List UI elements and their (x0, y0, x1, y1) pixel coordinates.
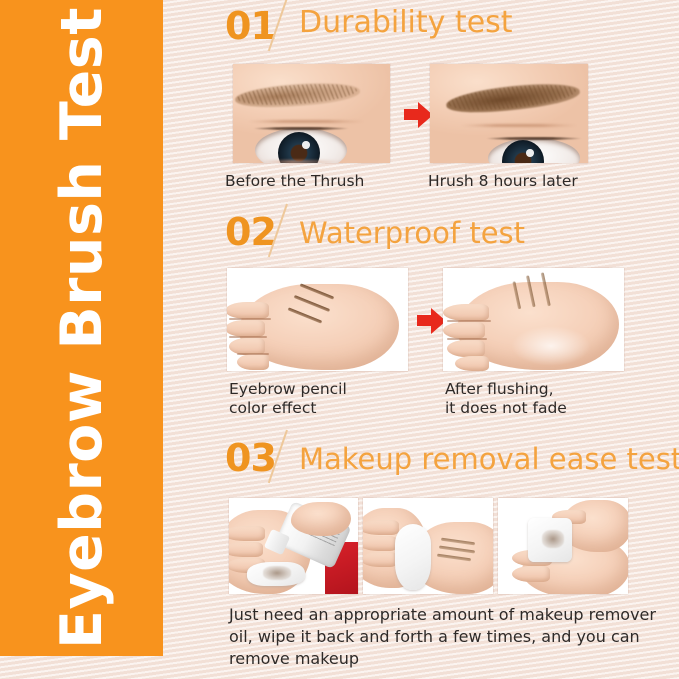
caption-pencil-color-effect: Eyebrow pencil color effect (229, 380, 409, 418)
section-title-03: Makeup removal ease test (299, 442, 679, 476)
content-column: 01 Durability test (163, 0, 679, 679)
photo-panel-remove-pad (498, 498, 628, 594)
section-number-03: 03 (225, 436, 276, 480)
caption-before-brush: Before the Thrush (225, 172, 405, 191)
vertical-banner: Eyebrow Brush Test (0, 0, 163, 656)
removal-description: Just need an appropriate amount of makeu… (229, 604, 679, 670)
section-heading-01: 01 Durability test (163, 0, 679, 52)
infographic-page: Eyebrow Brush Test 01 Durability test (0, 0, 679, 679)
photo-panel-before-brush (233, 64, 390, 163)
section-number-02: 02 (225, 210, 276, 254)
photo-panel-pour-remover (229, 498, 358, 594)
photo-panel-after-brush (430, 64, 588, 163)
section-waterproof-test: 02 Waterproof test (163, 206, 679, 432)
section-heading-02: 02 Waterproof test (163, 206, 679, 258)
section-number-01: 01 (225, 4, 276, 48)
section-title-01: Durability test (299, 5, 513, 40)
caption-after-brush: Hrush 8 hours later (428, 172, 618, 191)
photo-panel-pencil-color-effect (227, 268, 408, 371)
photo-panel-wipe-swatches (363, 498, 493, 594)
section-durability-test: 01 Durability test (163, 0, 679, 206)
section-title-02: Waterproof test (299, 216, 525, 250)
photo-panel-after-flushing (443, 268, 624, 371)
caption-after-flushing: After flushing, it does not fade (445, 380, 635, 418)
banner-title: Eyebrow Brush Test (49, 7, 115, 649)
section-makeup-removal-test: 03 Makeup removal ease test (163, 432, 679, 679)
section-heading-03: 03 Makeup removal ease test (163, 432, 679, 484)
